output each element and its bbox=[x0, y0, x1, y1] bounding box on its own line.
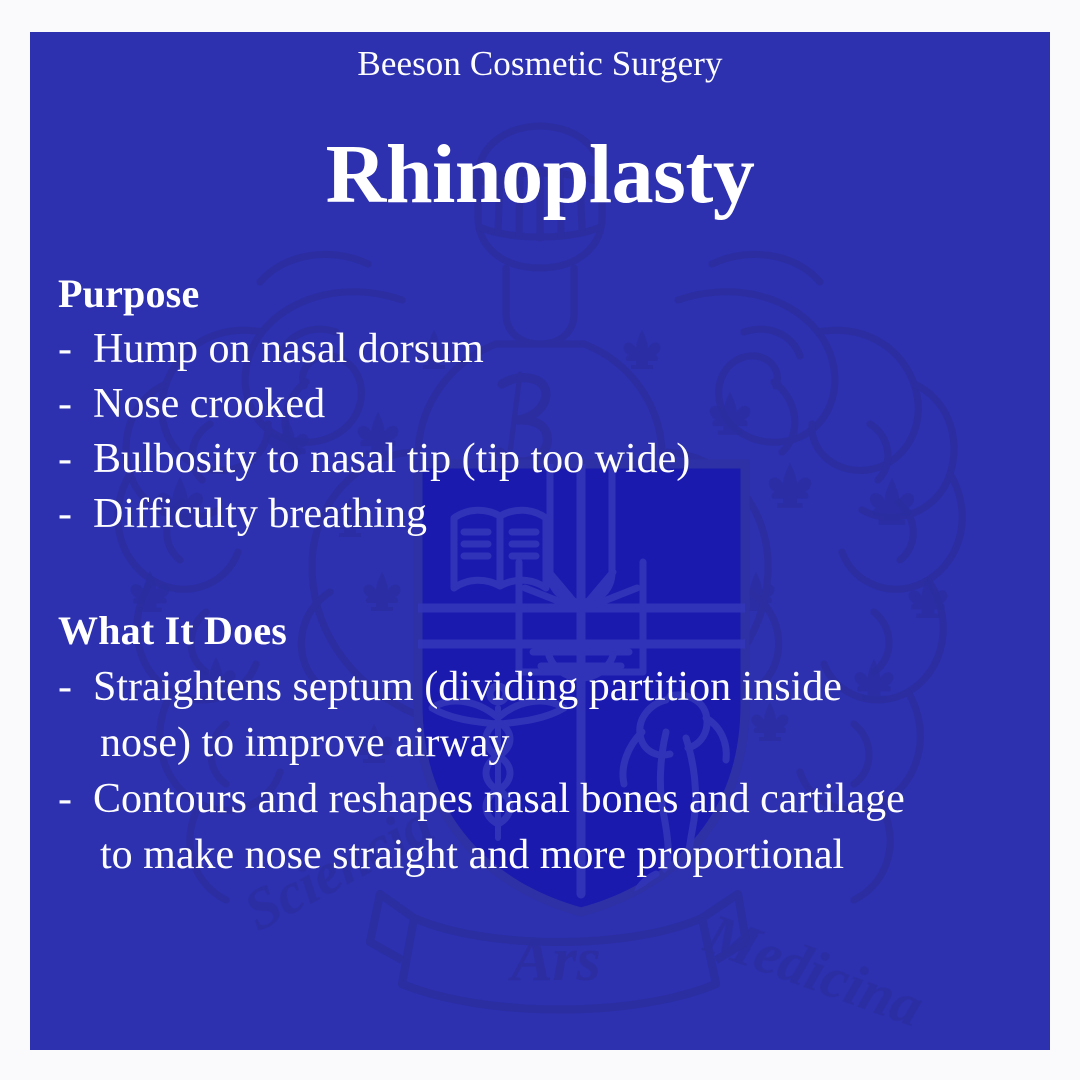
section-what-it-does-heading: What It Does bbox=[58, 605, 1048, 657]
section-purpose: Purpose - Hump on nasal dorsum - Nose cr… bbox=[58, 268, 1048, 542]
section-purpose-list: - Hump on nasal dorsum - Nose crooked - … bbox=[58, 322, 1048, 542]
list-item: - Hump on nasal dorsum bbox=[58, 322, 1048, 377]
list-item: - Straightens septum (dividing partition… bbox=[58, 659, 1048, 771]
list-item: - Difficulty breathing bbox=[58, 487, 1048, 542]
section-what-it-does-list: - Straightens septum (dividing partition… bbox=[58, 659, 1048, 883]
list-item: - Contours and reshapes nasal bones and … bbox=[58, 771, 1048, 883]
list-item: - Bulbosity to nasal tip (tip too wide) bbox=[58, 432, 1048, 487]
slide-canvas: Sciencia Medicina Ars Beeson Cosmetic Su… bbox=[0, 0, 1080, 1080]
list-item: - Nose crooked bbox=[58, 377, 1048, 432]
page-title: Rhinoplasty bbox=[30, 133, 1050, 217]
slide-panel: Sciencia Medicina Ars Beeson Cosmetic Su… bbox=[30, 32, 1050, 1050]
slide-content: Beeson Cosmetic Surgery Rhinoplasty Purp… bbox=[30, 32, 1050, 1050]
brand-name: Beeson Cosmetic Surgery bbox=[30, 46, 1050, 81]
section-purpose-heading: Purpose bbox=[58, 268, 1048, 320]
section-what-it-does: What It Does - Straightens septum (divid… bbox=[58, 605, 1048, 883]
